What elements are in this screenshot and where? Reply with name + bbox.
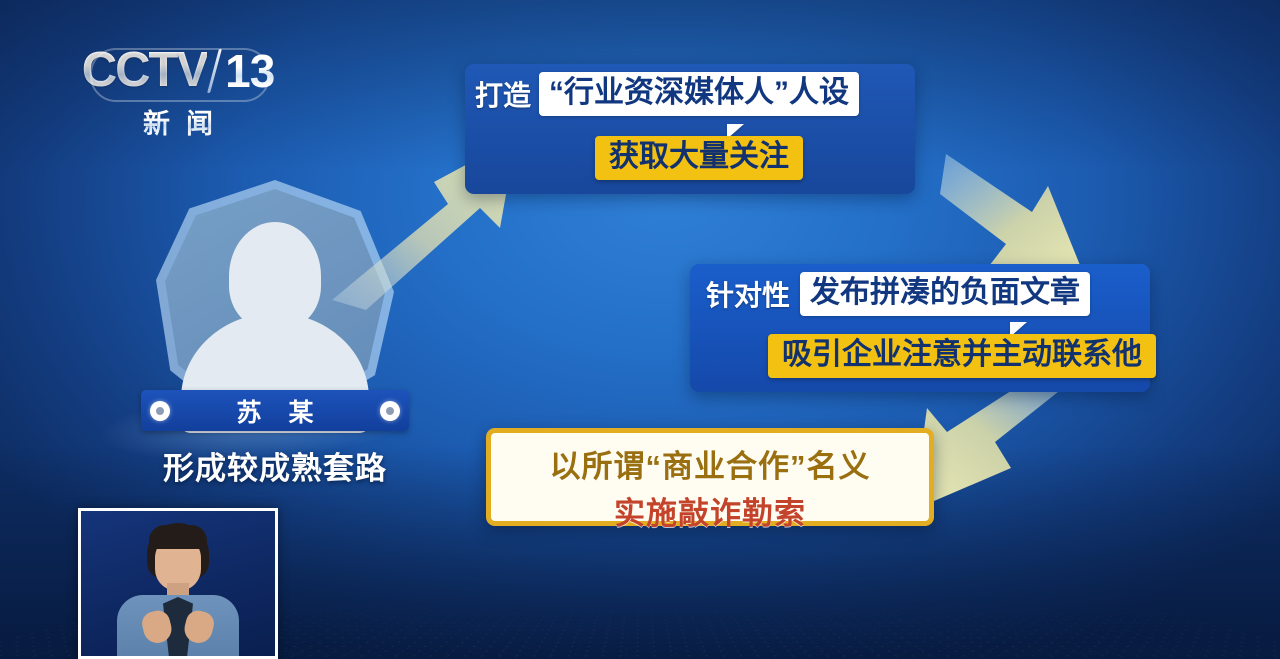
sign-language-interpreter-inset (78, 508, 278, 659)
rivet-left-icon (150, 401, 170, 421)
interpreter-fringe (149, 525, 207, 549)
logo-channel-number: 13 (225, 48, 274, 94)
rivet-right-icon (380, 401, 400, 421)
broadcast-graphic-frame: CCTV 13 新闻 苏 某 形成较成熟套路 (0, 0, 1280, 659)
arrow-3-shape (913, 378, 1073, 510)
step3-line-1: 以所谓“商业合作”名义 (491, 441, 929, 486)
flow-step-1: 打造 “行业资深媒体人”人设 获取大量关注 (465, 64, 915, 194)
suspect-name: 苏 某 (227, 393, 324, 429)
step2-highlight-chip: 发布拼凑的负面文章 (800, 272, 1090, 316)
step2-top-row: 针对性 发布拼凑的负面文章 (690, 264, 1150, 324)
logo-main-row: CCTV 13 (72, 46, 284, 95)
step1-highlight-chip: “行业资深媒体人”人设 (539, 72, 859, 116)
cctv13-logo: CCTV 13 新闻 (72, 46, 284, 141)
step3-line-2: 实施敲诈勒索 (491, 488, 929, 533)
step1-top-row: 打造 “行业资深媒体人”人设 (465, 64, 915, 124)
step1-lead-label: 打造 (475, 74, 531, 114)
logo-subtitle: 新闻 (72, 102, 284, 141)
step2-lead-label: 针对性 (706, 274, 790, 314)
step2-result-chip: 吸引企业注意并主动联系他 (768, 334, 1156, 378)
suspect-caption: 形成较成熟套路 (140, 443, 410, 488)
flow-step-3: 以所谓“商业合作”名义 实施敲诈勒索 (486, 428, 934, 526)
logo-cctv-text: CCTV (82, 46, 207, 95)
flow-step-2: 针对性 发布拼凑的负面文章 吸引企业注意并主动联系他 (690, 264, 1150, 392)
avatar-frame (156, 180, 394, 418)
logo-slash-icon (207, 49, 222, 93)
suspect-card: 苏 某 形成较成熟套路 (140, 180, 410, 488)
step1-result-chip: 获取大量关注 (595, 136, 803, 180)
name-plate: 苏 某 (141, 390, 409, 431)
